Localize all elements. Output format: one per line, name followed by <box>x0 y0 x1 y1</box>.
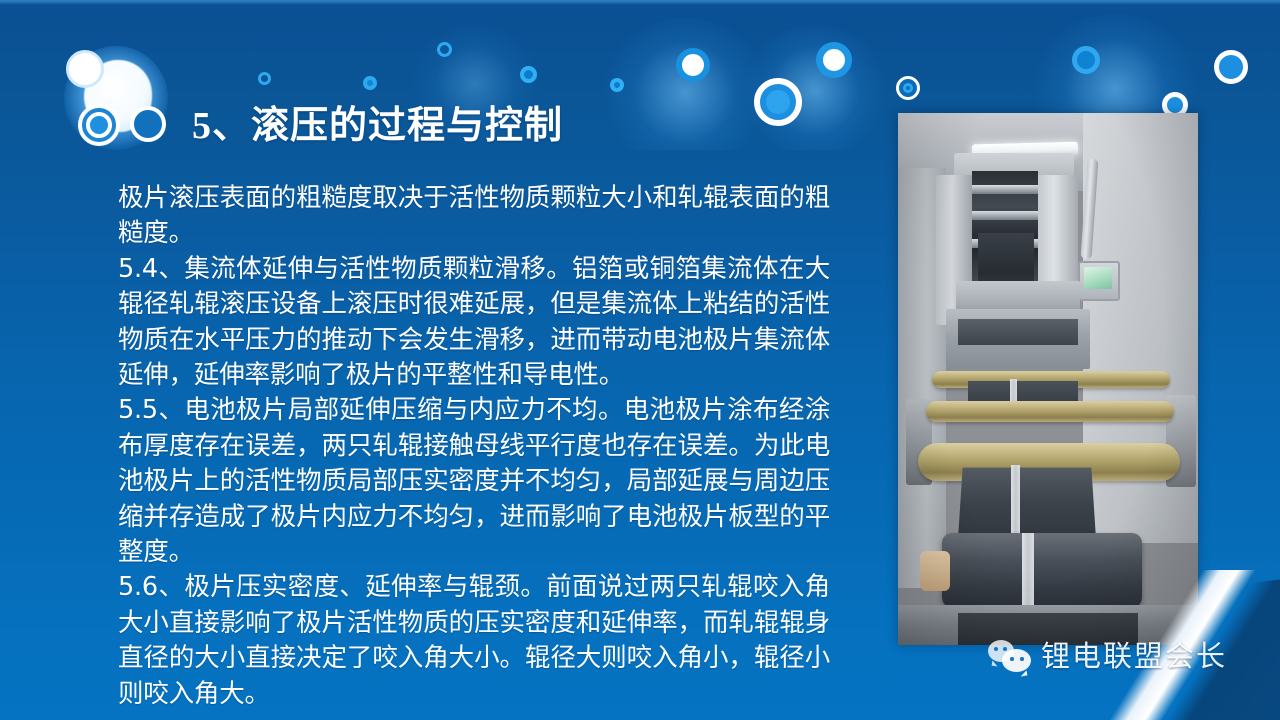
decor-bubble <box>903 83 913 93</box>
wechat-dot <box>1010 657 1014 661</box>
equipment-photo <box>898 113 1198 645</box>
bubbles-logo-icon <box>58 44 180 152</box>
decor-bubble <box>610 78 624 92</box>
decor-bubble <box>258 72 271 85</box>
body-paragraph-1: 极片滚压表面的粗糙度取决于活性物质颗粒大小和轧辊表面的粗糙度。 <box>118 181 830 252</box>
header-glow <box>600 18 770 150</box>
body-paragraph-3: 5.5、电池极片局部延伸压缩与内应力不均。电池极片涂布经涂布厚度存在误差，两只轧… <box>118 393 830 570</box>
decor-bubble <box>676 48 710 82</box>
decor-bubble <box>1072 46 1100 74</box>
logo-ring-small <box>66 50 104 88</box>
wechat-watermark-text: 锂电联盟会长 <box>1041 640 1227 672</box>
photo-vignette <box>898 113 1198 645</box>
decor-bubble <box>520 66 537 83</box>
wechat-dot <box>994 647 998 651</box>
decor-bubble <box>766 90 790 114</box>
body-paragraph-2: 5.4、集流体延伸与活性物质颗粒滑移。铝箔或铜箔集流体在大辊径轧辊滚压设备上滚压… <box>118 252 830 394</box>
wechat-bubble-front <box>1002 649 1031 672</box>
decor-bubble <box>437 42 452 57</box>
wechat-icon <box>988 640 1032 672</box>
logo-ring-right <box>130 106 166 142</box>
slide-title: 5、滚压的过程与控制 <box>192 107 563 145</box>
decor-bubble <box>816 42 852 78</box>
wechat-watermark: 锂电联盟会长 <box>988 640 1227 672</box>
body-paragraph-4: 5.6、极片压实密度、延伸率与辊颈。前面说过两只轧辊咬入角大小直接影响了极片活性… <box>118 570 830 712</box>
decor-bubble <box>1214 50 1248 84</box>
wechat-dot <box>1003 647 1007 651</box>
logo-ring-inner <box>86 112 112 138</box>
decor-bubble <box>363 76 377 90</box>
presentation-slide: 5、滚压的过程与控制 极片滚压表面的粗糙度取决于活性物质颗粒大小和轧辊表面的粗糙… <box>0 0 1280 720</box>
slide-body-text: 极片滚压表面的粗糙度取决于活性物质颗粒大小和轧辊表面的粗糙度。 5.4、集流体延… <box>118 181 830 712</box>
wechat-dot <box>1020 657 1024 661</box>
